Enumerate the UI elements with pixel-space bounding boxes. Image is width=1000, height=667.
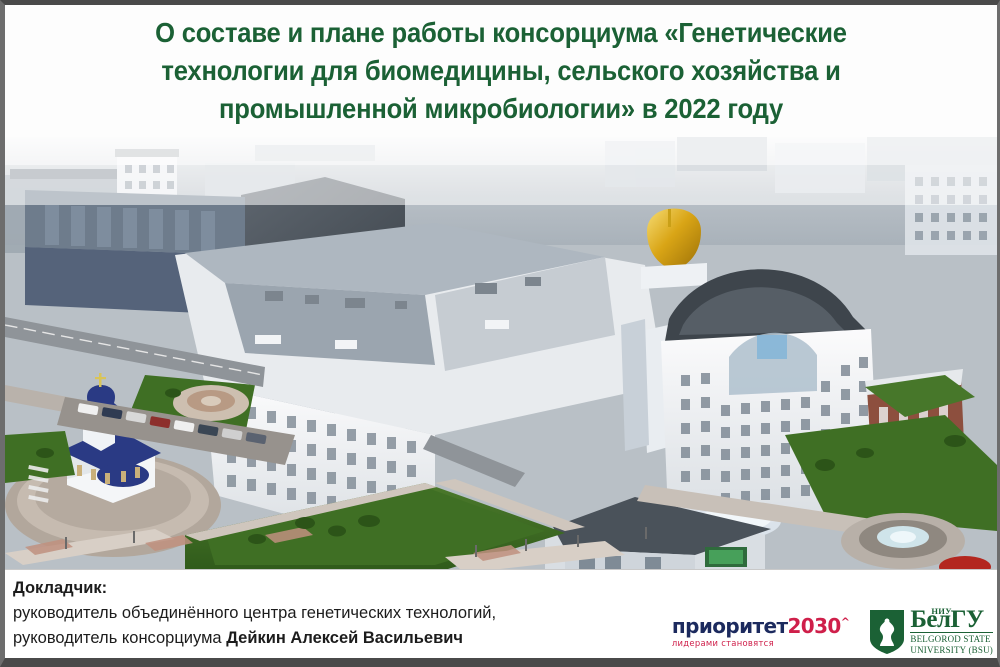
belgu-shield-icon <box>869 609 905 655</box>
speaker-label: Докладчик: <box>13 576 496 601</box>
belgu-top-row: НИУ БелГУ <box>910 607 993 632</box>
page-title: О составе и плане работы консорциума «Ге… <box>129 14 873 128</box>
belgu-english-line-2: UNIVERSITY (BSU) <box>910 645 993 656</box>
speaker-caption-band: Докладчик: руководитель объединённого це… <box>5 569 997 664</box>
campus-aerial-photo <box>5 135 997 573</box>
priority-2030-logo: приоритет2030^ лидерами становятся <box>672 616 849 647</box>
speaker-role-prefix: руководитель консорциума <box>13 629 226 647</box>
slide-title-band: О составе и плане работы консорциума «Ге… <box>5 5 997 137</box>
priority-number: 2030 <box>787 614 840 638</box>
priority-word: приоритет <box>672 614 788 638</box>
priority-tagline: лидерами становятся <box>672 639 849 647</box>
title-line-2: технологии для биомедицины, сельского хо… <box>129 52 873 90</box>
presentation-slide: О составе и плане работы консорциума «Ге… <box>0 0 1000 667</box>
speaker-name-line: руководитель консорциума Дейкин Алексей … <box>13 626 496 651</box>
speaker-name: Дейкин Алексей Васильевич <box>226 629 463 647</box>
priority-2030-wordmark: приоритет2030^ <box>672 616 849 636</box>
title-line-3: промышленной микробиологии» в 2022 году <box>129 90 873 128</box>
title-line-1: О составе и плане работы консорциума «Ге… <box>129 14 873 52</box>
belgu-niu: НИУ <box>931 607 951 616</box>
belgu-logo: НИУ БелГУ BELGOROD STATE UNIVERSITY (BSU… <box>869 607 993 656</box>
logo-row: приоритет2030^ лидерами становятся НИУ Б… <box>672 607 993 656</box>
speaker-caption: Докладчик: руководитель объединённого це… <box>13 576 496 651</box>
belgu-english-line-1: BELGOROD STATE <box>910 632 993 645</box>
speaker-role-line: руководитель объединённого центра генети… <box>13 601 496 626</box>
belgu-wordmark: НИУ БелГУ BELGOROD STATE UNIVERSITY (BSU… <box>910 607 993 656</box>
campus-aerial-illustration <box>5 135 997 573</box>
priority-caret-icon: ^ <box>841 615 850 628</box>
